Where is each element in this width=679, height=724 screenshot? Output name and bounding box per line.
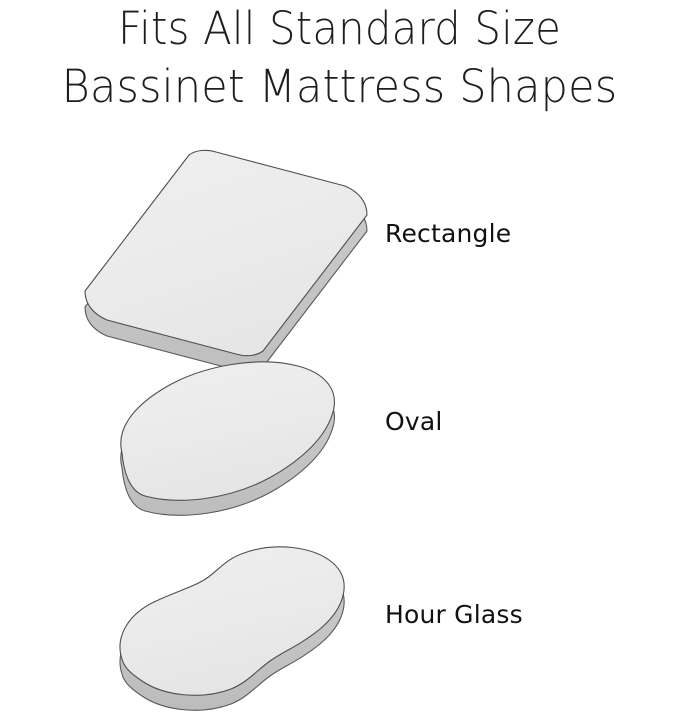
shape-label-hourglass: Hour Glass	[385, 600, 523, 630]
oval-top-face	[121, 362, 335, 500]
rectangle-mattress-3d-icon	[60, 136, 390, 346]
hourglass-top-face	[120, 547, 344, 695]
page-title-line-2: Bassinet Mattress Shapes	[15, 60, 663, 114]
infographic-page: Fits All Standard Size Bassinet Mattress…	[0, 0, 679, 718]
page-title-line-1: Fits All Standard Size	[24, 2, 655, 56]
shape-label-oval: Oval	[385, 407, 443, 437]
oval-mattress-3d-icon	[100, 344, 370, 534]
shape-label-rectangle: Rectangle	[385, 219, 511, 249]
rectangle-top-face	[85, 150, 367, 355]
hourglass-mattress-3d-icon	[98, 534, 378, 724]
